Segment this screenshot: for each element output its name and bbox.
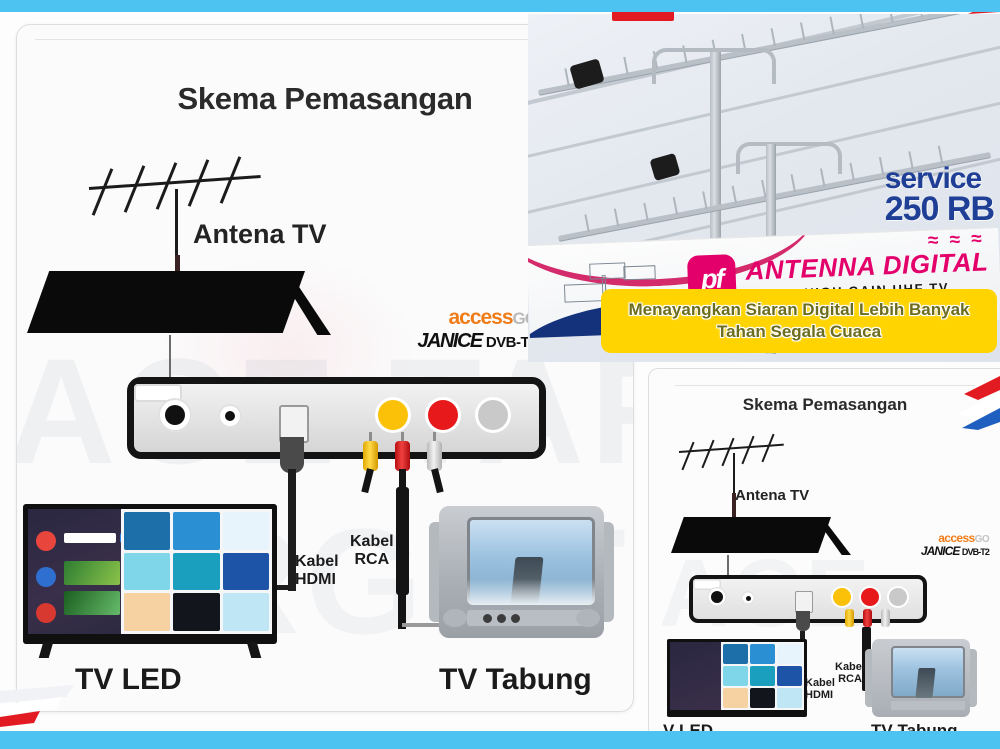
service-price-text: service 250 RB	[885, 164, 994, 227]
port-audio-red-icon	[428, 400, 458, 430]
mini-antenna-label: Antena TV	[735, 487, 809, 504]
mini-crt-tv-label: TV Tabung	[871, 721, 958, 731]
brand-access-text: accessGO	[347, 307, 537, 328]
mini-port-rf-out-icon	[741, 591, 755, 605]
port-rf-in-icon	[158, 398, 192, 432]
mini-led-tv-label: V LED	[663, 721, 713, 731]
mini-hdmi-label: Kabel HDMI	[805, 677, 835, 702]
mini-port-audio-red-icon	[861, 588, 879, 606]
mini-crt-tv-image	[865, 639, 977, 721]
top-blue-bar	[0, 0, 1000, 12]
mini-hdmi-plug-icon	[795, 591, 813, 613]
banner-line-2: Tahan Segala Cuaca	[717, 321, 881, 343]
port-rf-out-icon	[218, 404, 242, 428]
yellow-caption-banner: Menayangkan Siaran Digital Lebih Banyak …	[601, 289, 997, 353]
roof-shape	[27, 271, 327, 339]
rca-wire-yellow	[361, 468, 374, 493]
rca-wire-trunk	[396, 487, 409, 595]
mini-roof-shape	[671, 517, 851, 557]
mini-port-rf-in-icon	[707, 587, 727, 607]
port-audio-white-icon	[478, 400, 508, 430]
brand-janice-text: JANICE DVB-T2	[347, 330, 537, 352]
antenna-label: Antena TV	[193, 219, 327, 250]
mini-led-tv-image	[667, 639, 807, 717]
hdmi-neck	[280, 437, 304, 473]
port-video-yellow-icon	[378, 400, 408, 430]
ribbon-right-icon	[948, 374, 1000, 430]
crt-tv-label: TV Tabung	[439, 663, 592, 697]
mini-brand-logo: accessGO JANICE DVB-T2	[859, 532, 989, 559]
rca-cable-label: Kabel RCA	[350, 533, 394, 570]
mini-port-audio-white-icon	[889, 588, 907, 606]
set-top-box	[127, 377, 546, 459]
brand-logo: accessGO JANICE DVB-T2	[347, 307, 537, 352]
mini-header-divider	[675, 385, 975, 386]
mini-rca-label: Kabel RCA	[835, 661, 865, 686]
mini-port-video-yellow-icon	[833, 588, 851, 606]
banner-line-1: Menayangkan Siaran Digital Lebih Banyak	[628, 299, 969, 321]
mini-antenna-icon	[679, 431, 799, 491]
ribbon-left-icon	[0, 685, 110, 731]
hdmi-cable-label: Kabel HDMI	[295, 553, 339, 590]
rca-wire-white	[431, 468, 444, 493]
led-tv-image	[23, 504, 277, 644]
bottom-blue-bar	[0, 731, 1000, 749]
mini-hdmi-neck	[796, 611, 810, 631]
crt-tv-image	[429, 506, 614, 646]
screenshot-root: ACE TARGET ARGET Skema Pemasangan Antena…	[0, 0, 1000, 749]
